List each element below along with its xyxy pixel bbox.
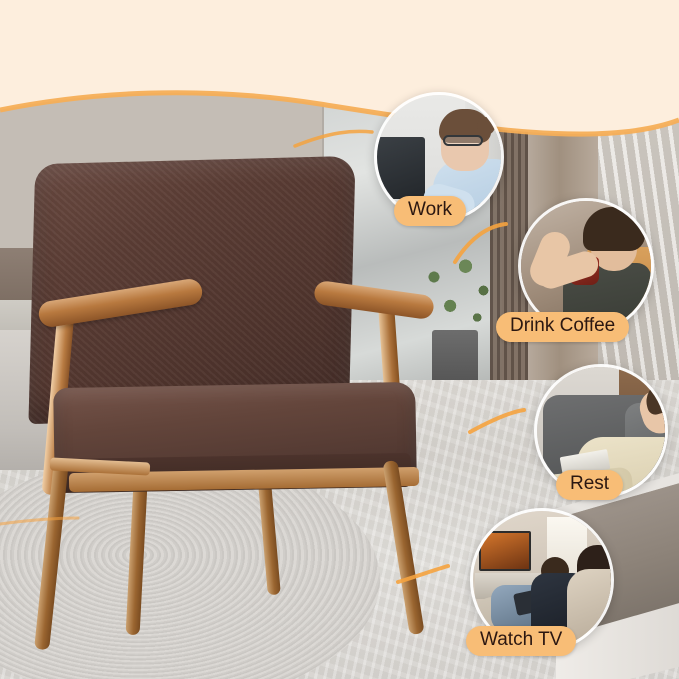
callout-label-drink-coffee[interactable]: Drink Coffee [496, 312, 629, 342]
monitor-icon [374, 137, 425, 199]
header-wave-divider [0, 0, 679, 190]
person-hair [583, 207, 645, 251]
callout-work[interactable]: Work [374, 92, 514, 252]
callout-label-rest[interactable]: Rest [556, 470, 623, 500]
glasses-icon [443, 135, 483, 146]
person-hair-bun [477, 117, 495, 135]
callout-watch-tv[interactable]: Watch TV [452, 508, 632, 673]
callout-drink-coffee[interactable]: Drink Coffee [496, 198, 676, 358]
callout-rest[interactable]: Rest [516, 364, 679, 514]
television-icon [479, 531, 531, 571]
callout-label-work[interactable]: Work [394, 196, 466, 226]
callout-label-watch-tv[interactable]: Watch TV [466, 626, 576, 656]
product-lifestyle-poster: DIVERSE SCENARIOS & APPLICATIONS Work [0, 0, 679, 679]
